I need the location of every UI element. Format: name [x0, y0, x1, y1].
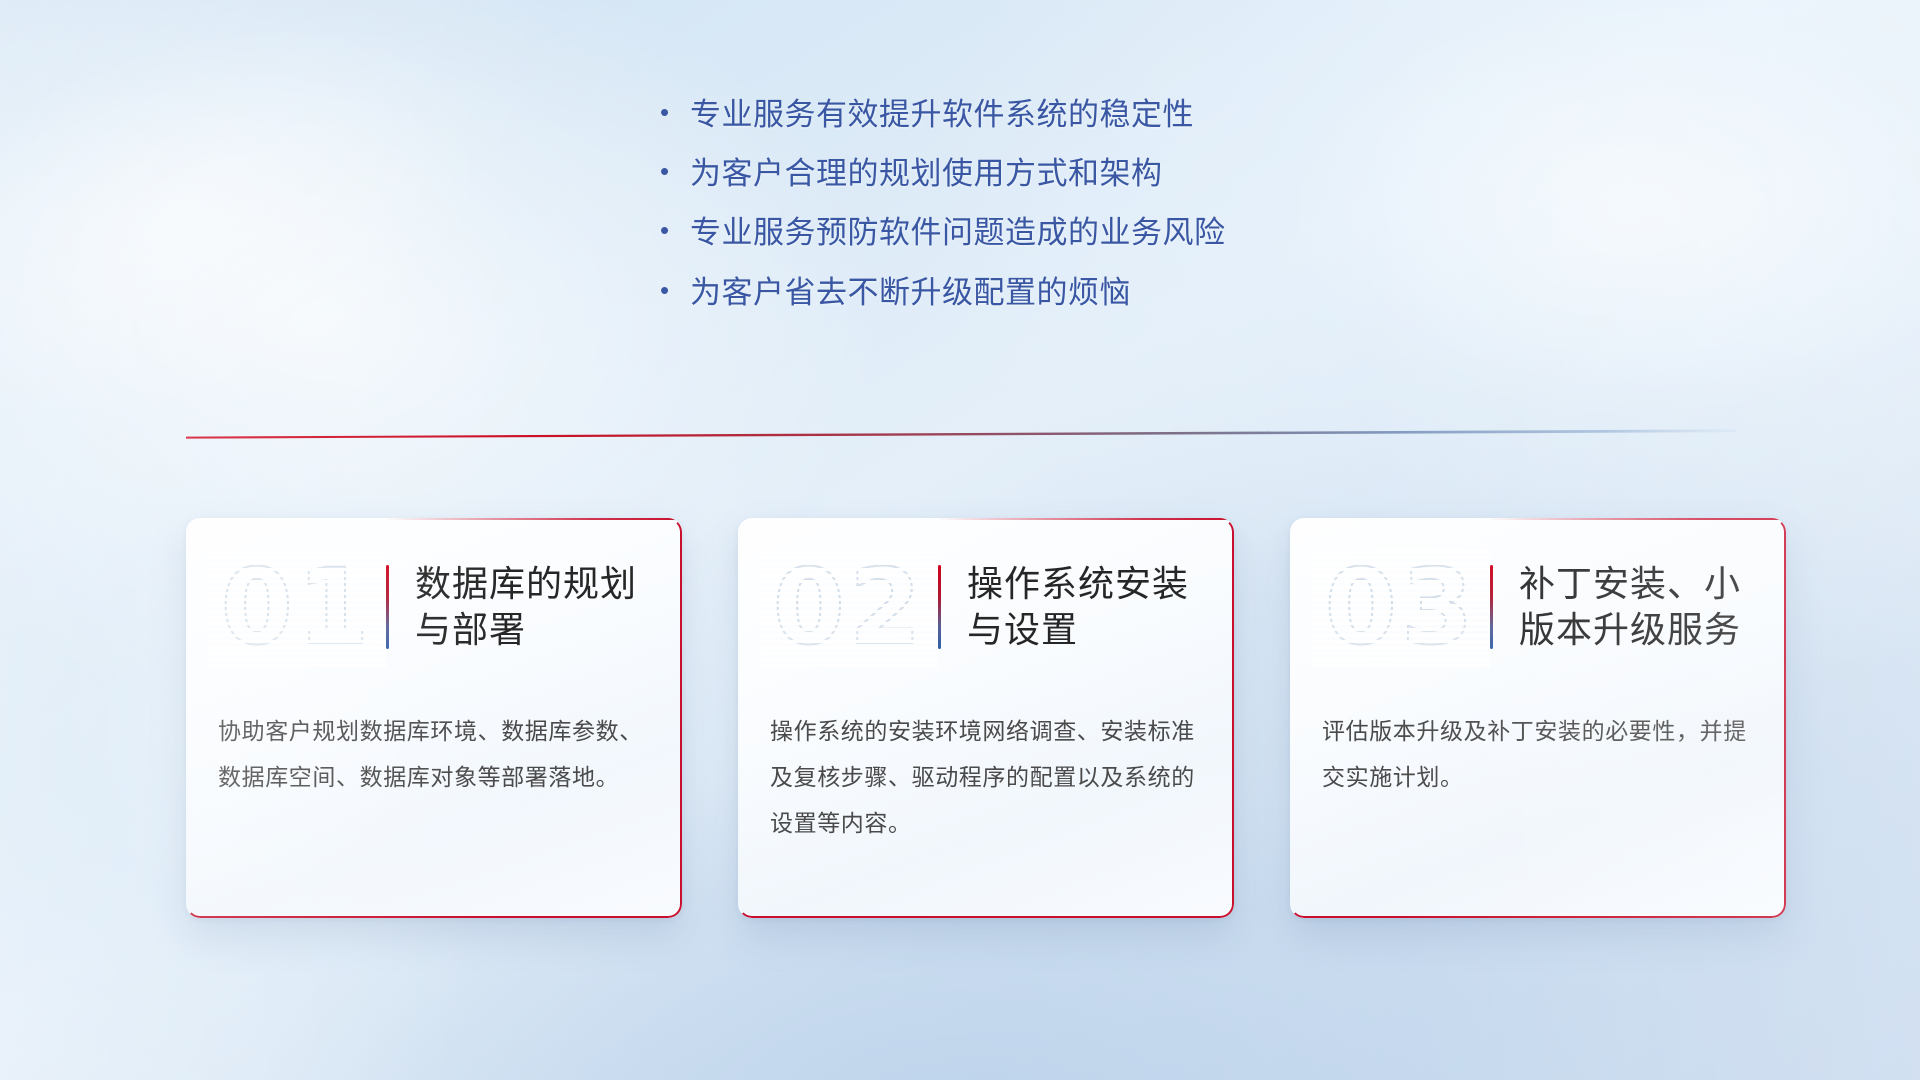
bullet-dot-icon: • — [660, 277, 690, 303]
card-number-graphic: 03 — [1312, 547, 1490, 667]
list-item: • 专业服务预防软件问题造成的业务风险 — [660, 214, 1226, 251]
card-number-graphic: 01 — [208, 547, 386, 667]
title-divider-bar — [1490, 565, 1493, 649]
background-light-streak — [0, 0, 540, 487]
card-header: 01 数据库的规划与部署 — [186, 518, 682, 696]
service-card[interactable]: 02 操作系统安装与设置 操作系统的安装环境网络调查、安装标准及复核步骤、驱动程… — [738, 518, 1234, 918]
bullet-dot-icon: • — [660, 217, 690, 243]
card-body-text: 评估版本升级及补丁安装的必要性，并提交实施计划。 — [1290, 696, 1786, 800]
list-item: • 为客户省去不断升级配置的烦恼 — [660, 274, 1226, 311]
section-divider — [186, 428, 1736, 440]
background-light-streak — [1280, 0, 1920, 420]
bullet-text: 为客户合理的规划使用方式和架构 — [690, 155, 1163, 192]
card-number: 03 — [1325, 555, 1478, 659]
card-number: 01 — [221, 555, 374, 659]
list-item: • 专业服务有效提升软件系统的稳定性 — [660, 96, 1226, 133]
card-number: 02 — [773, 555, 926, 659]
slide-canvas: • 专业服务有效提升软件系统的稳定性 • 为客户合理的规划使用方式和架构 • 专… — [0, 0, 1920, 1080]
service-card[interactable]: 01 数据库的规划与部署 协助客户规划数据库环境、数据库参数、数据库空间、数据库… — [186, 518, 682, 918]
tapered-line-graphic — [186, 428, 1736, 440]
card-body-text: 协助客户规划数据库环境、数据库参数、数据库空间、数据库对象等部署落地。 — [186, 696, 682, 800]
title-divider-bar — [938, 565, 941, 649]
bullet-dot-icon: • — [660, 158, 690, 184]
card-body-text: 操作系统的安装环境网络调查、安装标准及复核步骤、驱动程序的配置以及系统的设置等内… — [738, 696, 1234, 846]
bullet-text: 为客户省去不断升级配置的烦恼 — [690, 274, 1131, 311]
card-title: 补丁安装、小版本升级服务 — [1519, 561, 1760, 653]
title-divider-bar — [386, 565, 389, 649]
card-row: 01 数据库的规划与部署 协助客户规划数据库环境、数据库参数、数据库空间、数据库… — [186, 518, 1786, 918]
card-number-graphic: 02 — [760, 547, 938, 667]
bullet-text: 专业服务有效提升软件系统的稳定性 — [690, 96, 1194, 133]
card-header: 03 补丁安装、小版本升级服务 — [1290, 518, 1786, 696]
service-card[interactable]: 03 补丁安装、小版本升级服务 评估版本升级及补丁安装的必要性，并提交实施计划。 — [1290, 518, 1786, 918]
bullet-list: • 专业服务有效提升软件系统的稳定性 • 为客户合理的规划使用方式和架构 • 专… — [660, 96, 1226, 311]
bullet-dot-icon: • — [660, 99, 690, 125]
card-title: 数据库的规划与部署 — [415, 561, 656, 653]
bullet-text: 专业服务预防软件问题造成的业务风险 — [690, 214, 1226, 251]
card-title: 操作系统安装与设置 — [967, 561, 1208, 653]
card-header: 02 操作系统安装与设置 — [738, 518, 1234, 696]
list-item: • 为客户合理的规划使用方式和架构 — [660, 155, 1226, 192]
